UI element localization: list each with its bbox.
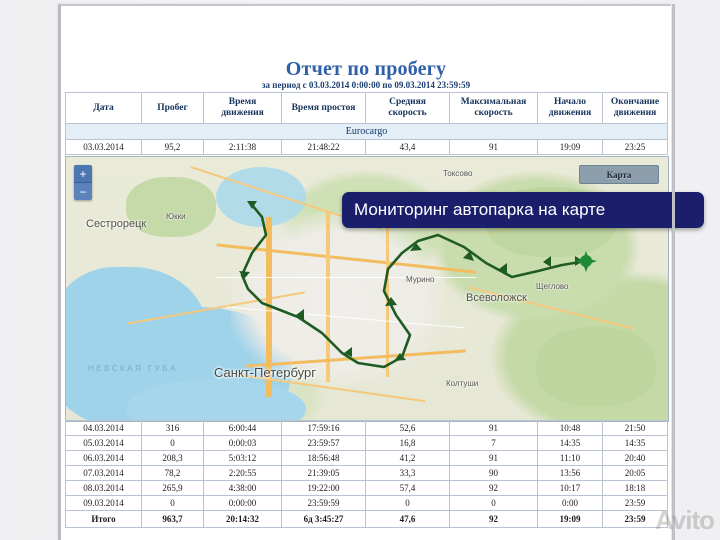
table-cell-5: 0	[450, 496, 538, 511]
table-cell-2: 0:00:00	[204, 496, 282, 511]
table-cell-6: 13:56	[538, 466, 603, 481]
table-cell-6: 19:09	[538, 511, 603, 528]
screenshot-root: ➶ PDF X XLS X CSV Отчет по пробегу за пе…	[0, 0, 720, 540]
table-cell-6: 11:10	[538, 451, 603, 466]
table-header-cell-2: Времядвижения	[204, 93, 282, 124]
table-cell-7: 18:18	[603, 481, 668, 496]
table-cell-7: 14:35	[603, 436, 668, 451]
table-header-cell-0: Дата	[66, 93, 142, 124]
table-total-body: Итого963,720:14:326д 3:45:2747,69219:092…	[66, 511, 668, 528]
map-label: Сестрорецк	[86, 218, 146, 230]
table-cell-4: 16,8	[366, 436, 450, 451]
table-cell-0: Итого	[66, 511, 142, 528]
table-cell-0: 08.03.2014	[66, 481, 142, 496]
table-body-top: 03.03.201495,22:11:3821:48:2243,49119:09…	[66, 140, 668, 155]
table-cell-5: 92	[450, 481, 538, 496]
table-cell-3: 18:56:48	[282, 451, 366, 466]
group-row: Eurocargo	[66, 124, 668, 140]
table-cell-4: 43,4	[366, 140, 450, 155]
table-cell-3: 21:48:22	[282, 140, 366, 155]
table-row: 04.03.20143166:00:4417:59:1652,69110:482…	[66, 421, 668, 436]
table-cell-0: 09.03.2014	[66, 496, 142, 511]
table-cell-4: 0	[366, 496, 450, 511]
table-cell-7: 20:05	[603, 466, 668, 481]
table-cell-1: 265,9	[142, 481, 204, 496]
table-header-cell-6: Началодвижения	[538, 93, 603, 124]
table-cell-6: 0:00	[538, 496, 603, 511]
table-cell-3: 19:22:00	[282, 481, 366, 496]
table-header-row: ДатаПробегВремядвиженияВремя простояСред…	[66, 93, 668, 124]
group-label: Eurocargo	[66, 124, 668, 140]
table-row: 08.03.2014265,94:38:0019:22:0057,49210:1…	[66, 481, 668, 496]
table-cell-0: 04.03.2014	[66, 421, 142, 436]
table-cell-4: 41,2	[366, 451, 450, 466]
table-row: 06.03.2014208,35:03:1218:56:4841,29111:1…	[66, 451, 668, 466]
promo-banner-text: Мониторинг автопарка на карте	[354, 200, 605, 220]
table-cell-5: 92	[450, 511, 538, 528]
map-label: Всеволожск	[466, 292, 527, 304]
table-cell-2: 2:11:38	[204, 140, 282, 155]
table-cell-5: 91	[450, 421, 538, 436]
table-cell-1: 208,3	[142, 451, 204, 466]
table-cell-2: 0:00:03	[204, 436, 282, 451]
table-cell-7: 23:59	[603, 496, 668, 511]
map-label: Юкки	[166, 212, 186, 221]
table-cell-7: 23:25	[603, 140, 668, 155]
table-cell-3: 17:59:16	[282, 421, 366, 436]
table-cell-5: 90	[450, 466, 538, 481]
table-cell-7: 20:40	[603, 451, 668, 466]
report-sheet: Отчет по пробегу за период с 03.03.2014 …	[58, 4, 671, 540]
map-label: Щеглово	[536, 282, 569, 291]
table-cell-0: 03.03.2014	[66, 140, 142, 155]
map-label: Токсово	[443, 169, 472, 178]
table-cell-5: 91	[450, 451, 538, 466]
table-cell-4: 33,3	[366, 466, 450, 481]
map-zoom-controls[interactable]: + −	[74, 165, 92, 200]
table-cell-5: 7	[450, 436, 538, 451]
map-label: Колтуши	[446, 379, 478, 388]
table-row: 03.03.201495,22:11:3821:48:2243,49119:09…	[66, 140, 668, 155]
table-cell-0: 05.03.2014	[66, 436, 142, 451]
map-label: Мурино	[406, 275, 434, 284]
table-cell-4: 57,4	[366, 481, 450, 496]
table-cell-2: 5:03:12	[204, 451, 282, 466]
table-row: Итого963,720:14:326д 3:45:2747,69219:092…	[66, 511, 668, 528]
table-cell-6: 14:35	[538, 436, 603, 451]
map-label: Санкт-Петербург	[214, 365, 316, 380]
map-label: НЕВСКАЯ ГУБА	[88, 364, 178, 373]
report-table-top: ДатаПробегВремядвиженияВремя простояСред…	[65, 92, 668, 155]
table-cell-3: 6д 3:45:27	[282, 511, 366, 528]
table-cell-2: 2:20:55	[204, 466, 282, 481]
table-cell-7: 23:59	[603, 511, 668, 528]
table-cell-2: 4:38:00	[204, 481, 282, 496]
table-cell-5: 91	[450, 140, 538, 155]
table-row: 09.03.201400:00:0023:59:59000:0023:59	[66, 496, 668, 511]
report-period: за период с 03.03.2014 0:00:00 по 09.03.…	[61, 80, 671, 90]
table-cell-1: 316	[142, 421, 204, 436]
table-cell-1: 95,2	[142, 140, 204, 155]
table-header-cell-7: Окончаниедвижения	[603, 93, 668, 124]
table-cell-1: 0	[142, 496, 204, 511]
table-cell-3: 23:59:59	[282, 496, 366, 511]
zoom-in-button[interactable]: +	[74, 165, 92, 182]
table-cell-4: 52,6	[366, 421, 450, 436]
table-cell-1: 0	[142, 436, 204, 451]
table-header-cell-5: Максимальнаяскорость	[450, 93, 538, 124]
table-cell-6: 19:09	[538, 140, 603, 155]
table-body-bottom: 04.03.20143166:00:4417:59:1652,69110:482…	[66, 421, 668, 511]
table-cell-3: 21:39:05	[282, 466, 366, 481]
page-title: Отчет по пробегу	[61, 58, 671, 81]
table-cell-2: 6:00:44	[204, 421, 282, 436]
table-cell-3: 23:59:57	[282, 436, 366, 451]
table-header-cell-3: Время простоя	[282, 93, 366, 124]
table-cell-0: 07.03.2014	[66, 466, 142, 481]
table-cell-1: 78,2	[142, 466, 204, 481]
map-type-button[interactable]: Карта	[579, 165, 659, 184]
zoom-out-button[interactable]: −	[74, 182, 92, 200]
table-cell-4: 47,6	[366, 511, 450, 528]
table-header-cell-4: Средняяскорость	[366, 93, 450, 124]
promo-banner: Мониторинг автопарка на карте	[342, 192, 704, 228]
report-table-bottom: 04.03.20143166:00:4417:59:1652,69110:482…	[65, 420, 668, 528]
table-row: 05.03.201400:00:0323:59:5716,8714:3514:3…	[66, 436, 668, 451]
table-row: 07.03.201478,22:20:5521:39:0533,39013:56…	[66, 466, 668, 481]
table-cell-1: 963,7	[142, 511, 204, 528]
table-cell-7: 21:50	[603, 421, 668, 436]
table-cell-6: 10:48	[538, 421, 603, 436]
table-cell-6: 10:17	[538, 481, 603, 496]
table-cell-2: 20:14:32	[204, 511, 282, 528]
table-header-cell-1: Пробег	[142, 93, 204, 124]
table-cell-0: 06.03.2014	[66, 451, 142, 466]
